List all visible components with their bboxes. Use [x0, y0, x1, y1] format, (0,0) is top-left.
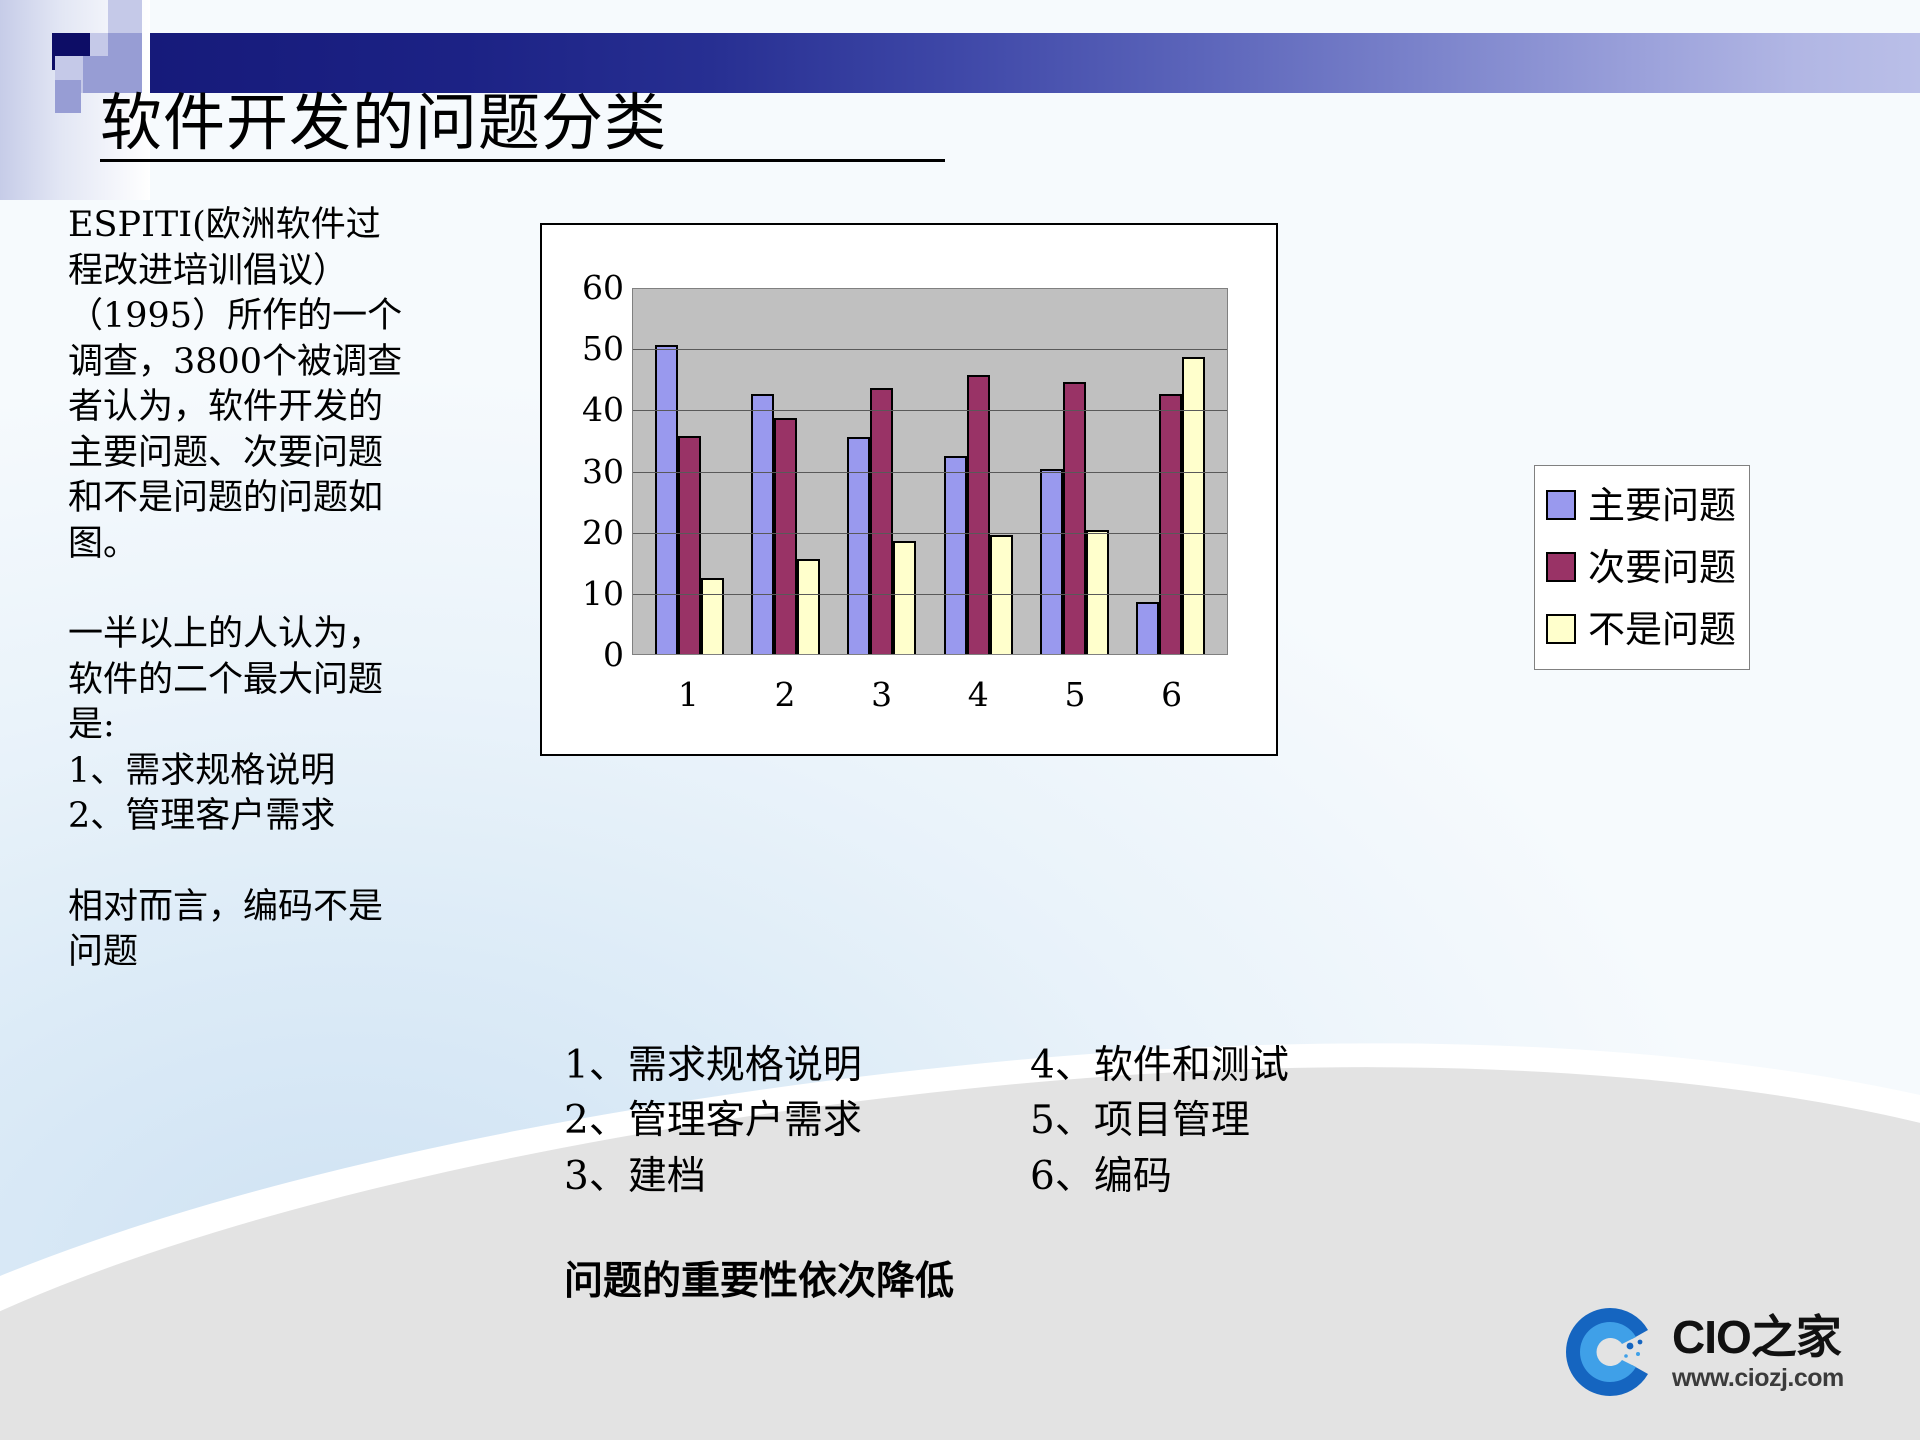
- chart-gridline: [633, 410, 1227, 411]
- chart-bar: [701, 578, 724, 654]
- left-p1-line-7: 和不是问题的问题如: [68, 476, 498, 522]
- chart-plot-area: [632, 288, 1228, 655]
- left-p2-line-5: 2、管理客户需求: [68, 794, 498, 840]
- left-p2-line-1: 一半以上的人认为，: [68, 612, 498, 658]
- chart-bar: [1063, 382, 1086, 654]
- chart-y-tick-label: 0: [562, 638, 624, 671]
- chart-gridline: [633, 472, 1227, 473]
- header-gradient-bar: [142, 33, 1920, 93]
- left-p3-line-1: 相对而言，编码不是: [68, 885, 498, 931]
- chart-bar: [1182, 357, 1205, 654]
- chart-y-tick-label: 10: [562, 577, 624, 610]
- chart-bar: [1040, 469, 1063, 654]
- chart-legend-swatch: [1546, 552, 1576, 582]
- cio-logo-url: www.ciozj.com: [1672, 1366, 1844, 1391]
- deco-square-1: [108, 0, 142, 33]
- bar-chart: 0102030405060 123456: [540, 223, 1278, 756]
- bottom-list-right-item-3: 6、编码: [1030, 1149, 1289, 1204]
- chart-bar: [1136, 602, 1159, 654]
- chart-bar: [847, 437, 870, 654]
- chart-bar: [893, 541, 916, 654]
- chart-y-tick-label: 60: [562, 271, 624, 304]
- chart-legend-swatch: [1546, 490, 1576, 520]
- page-title: 软件开发的问题分类: [100, 90, 960, 155]
- left-p3-line-2: 问题: [68, 930, 498, 976]
- chart-x-axis: 123456: [632, 675, 1228, 714]
- cio-circle-logo-icon: [1560, 1302, 1660, 1402]
- chart-legend-item: 次要问题: [1546, 536, 1736, 598]
- chart-gridline: [633, 594, 1227, 595]
- chart-x-tick-label: 6: [1125, 675, 1219, 714]
- chart-legend: 主要问题次要问题不是问题: [1534, 465, 1750, 670]
- title-underline: [100, 159, 945, 162]
- left-p1-line-3: （1995）所作的一个: [68, 294, 498, 340]
- chart-bar: [797, 559, 820, 654]
- bottom-note: 问题的重要性依次降低: [564, 1250, 954, 1306]
- chart-bar: [1086, 530, 1109, 654]
- chart-gridline: [633, 349, 1227, 350]
- chart-x-tick-label: 2: [738, 675, 832, 714]
- chart-gridline: [633, 533, 1227, 534]
- chart-x-tick-label: 3: [835, 675, 929, 714]
- bottom-list-right-item-1: 4、软件和测试: [1030, 1038, 1289, 1093]
- chart-legend-item: 不是问题: [1546, 598, 1736, 660]
- chart-bar: [751, 394, 774, 654]
- chart-y-tick-label: 50: [562, 332, 624, 365]
- chart-y-tick-label: 30: [562, 455, 624, 488]
- chart-legend-label: 不是问题: [1588, 611, 1736, 648]
- left-p1-line-5: 者认为，软件开发的: [68, 385, 498, 431]
- left-body-text: ESPITI(欧洲软件过 程改进培训倡议） （1995）所作的一个 调查，380…: [68, 203, 498, 976]
- page-title-wrapper: 软件开发的问题分类: [100, 90, 960, 162]
- chart-bar: [967, 375, 990, 654]
- left-p1-line-6: 主要问题、次要问题: [68, 431, 498, 477]
- chart-bar: [655, 345, 678, 654]
- bottom-list-left-item-3: 3、建档: [564, 1149, 862, 1204]
- chart-x-tick-label: 1: [641, 675, 735, 714]
- bottom-list-left-item-2: 2、管理客户需求: [564, 1093, 862, 1148]
- chart-x-tick-label: 5: [1028, 675, 1122, 714]
- slide: 软件开发的问题分类 ESPITI(欧洲软件过 程改进培训倡议） （1995）所作…: [0, 0, 1920, 1440]
- left-p2-line-3: 是:: [68, 703, 498, 749]
- chart-bar: [944, 456, 967, 654]
- chart-bar: [774, 418, 797, 654]
- deco-square-7: [55, 80, 81, 113]
- cio-logo: CIO之家 www.ciozj.com: [1560, 1292, 1900, 1412]
- left-p1-line-4: 调查，3800个被调查: [68, 340, 498, 386]
- bottom-list-right: 4、软件和测试 5、项目管理 6、编码: [1030, 1038, 1289, 1204]
- chart-legend-item: 主要问题: [1546, 474, 1736, 536]
- chart-x-tick-label: 4: [931, 675, 1025, 714]
- cio-logo-text: CIO之家 www.ciozj.com: [1672, 1314, 1844, 1391]
- left-spacer-2: [68, 840, 498, 885]
- chart-bar: [678, 436, 701, 654]
- chart-bar: [1159, 394, 1182, 654]
- chart-y-tick-label: 20: [562, 516, 624, 549]
- cio-logo-name: CIO之家: [1672, 1314, 1844, 1360]
- chart-bar: [870, 388, 893, 654]
- left-spacer-1: [68, 567, 498, 612]
- bottom-list-left: 1、需求规格说明 2、管理客户需求 3、建档: [564, 1038, 862, 1204]
- chart-y-axis: 0102030405060: [550, 288, 624, 655]
- chart-legend-label: 主要问题: [1588, 487, 1736, 524]
- bottom-list-left-item-1: 1、需求规格说明: [564, 1038, 862, 1093]
- chart-y-tick-label: 40: [562, 393, 624, 426]
- left-p2-line-2: 软件的二个最大问题: [68, 658, 498, 704]
- left-p1-line-8: 图。: [68, 522, 498, 568]
- bottom-list-right-item-2: 5、项目管理: [1030, 1093, 1289, 1148]
- left-p2-line-4: 1、需求规格说明: [68, 749, 498, 795]
- left-p1-line-2: 程改进培训倡议）: [68, 249, 498, 295]
- chart-legend-swatch: [1546, 614, 1576, 644]
- left-p1-line-1: ESPITI(欧洲软件过: [68, 203, 498, 249]
- chart-legend-label: 次要问题: [1588, 549, 1736, 586]
